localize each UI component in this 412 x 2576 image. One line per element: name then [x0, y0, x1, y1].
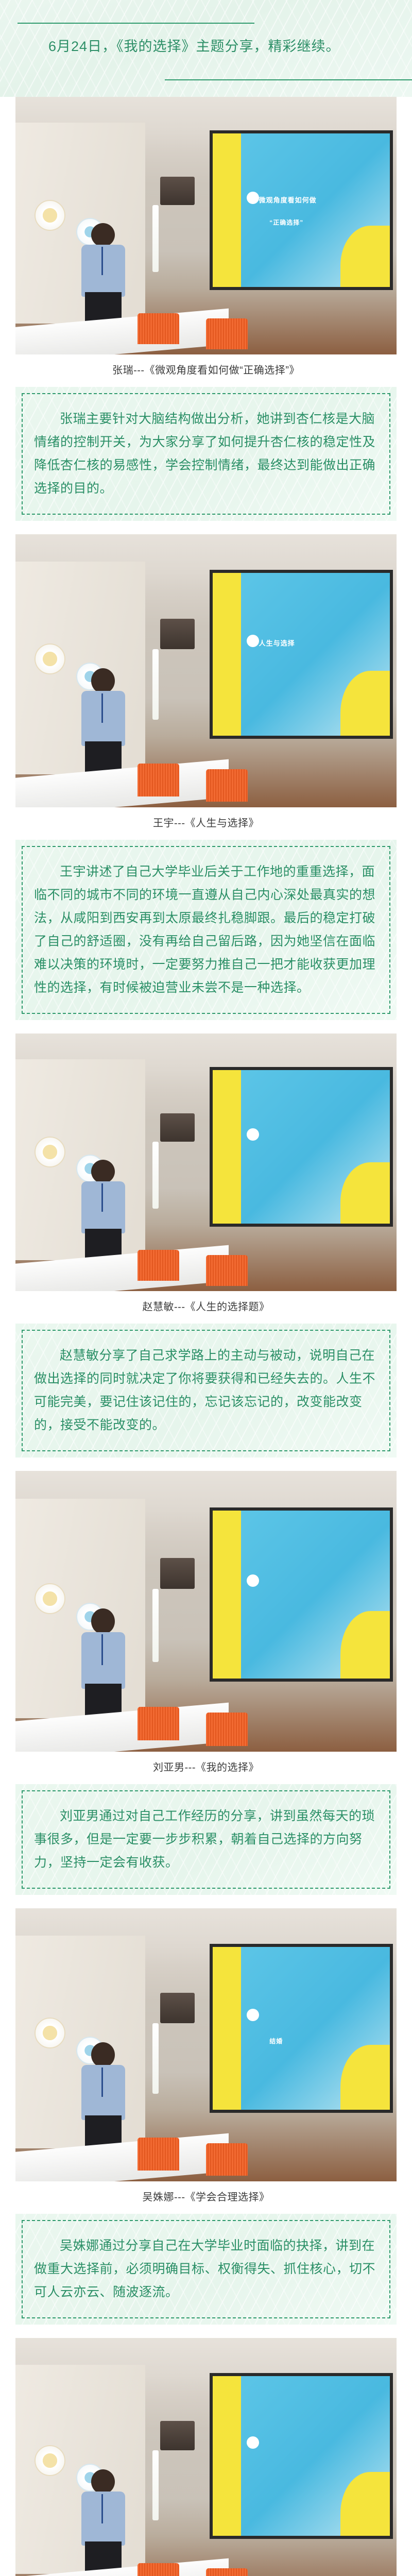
person-lanyard-icon — [101, 693, 103, 723]
person-head-icon — [91, 1608, 115, 1634]
summary-text: 赵慧敏分享了自己求学路上的主动与被动，说明自己在做出选择的同时就决定了你将要获得… — [34, 1344, 378, 1437]
person-lanyard-icon — [101, 247, 103, 275]
photo-light-tube-icon — [152, 2450, 159, 2520]
person-lanyard-icon — [101, 1183, 103, 1212]
photo-projector-speaker — [160, 177, 195, 205]
speaker-section: 赵慧敏---《人生的选择题》赵慧敏分享了自己求学路上的主动与被动，说明自己在做出… — [0, 1033, 412, 1458]
photo-speaker-person — [80, 2469, 126, 2576]
dashed-border-box: 刘亚男通过对自己工作经历的分享，讲到虽然每天的琐事很多，但是一定要一步步积累，朝… — [22, 1790, 390, 1889]
speaker-section: 结婚吴姝娜---《学会合理选择》吴姝娜通过分享自己在大学毕业时面临的抉择，讲到在… — [0, 1908, 412, 2325]
speaker-photo[interactable]: 微观角度看如何做“正确选择” — [15, 97, 397, 354]
photo-projector-speaker — [160, 2421, 195, 2450]
photo-projector-speaker — [160, 1993, 195, 2023]
slide-accent-shape-2 — [340, 1611, 390, 1678]
slide-accent-shape-2 — [340, 1162, 390, 1224]
photo-chair-1-icon — [138, 764, 179, 796]
slide-accent-shape — [213, 1947, 241, 2110]
speaker-section: 微观角度看如何做“正确选择”张瑞---《微观角度看如何做“正确选择”》张瑞主要针… — [0, 97, 412, 521]
photo-projection-screen — [210, 2373, 392, 2539]
summary-text: 刘亚男通过对自己工作经历的分享，讲到虽然每天的琐事很多，但是一定要一步步积累，朝… — [34, 1805, 378, 1874]
photo-wall-decal-icon — [35, 643, 65, 674]
photo-chair-2-icon — [206, 2568, 248, 2576]
person-shirt — [81, 245, 125, 297]
photo-wall-decal-icon — [35, 2445, 65, 2476]
photo-projection-screen: 结婚 — [210, 1944, 392, 2113]
photo-wall-decal-icon — [35, 1137, 65, 1167]
slide-title: 微观角度看如何做 — [259, 195, 317, 205]
person-head-icon — [91, 2042, 115, 2067]
banner-bottom-rule — [165, 79, 412, 80]
dashed-border-box: 赵慧敏分享了自己求学路上的主动与被动，说明自己在做出选择的同时就决定了你将要获得… — [22, 1330, 390, 1451]
photo-chair-2-icon — [206, 318, 248, 349]
photo-caption: 张瑞---《微观角度看如何做“正确选择”》 — [0, 354, 412, 387]
photo-speaker-person — [80, 2042, 126, 2157]
summary-callout: 刘亚男通过对自己工作经历的分享，讲到虽然每天的琐事很多，但是一定要一步步积累，朝… — [15, 1784, 397, 1895]
slide-smiley-icon — [247, 1128, 259, 1141]
photo-chair-2-icon — [206, 1713, 248, 1746]
summary-callout: 王宇讲述了自己大学毕业后关于工作地的重重选择，面临不同的城市不同的环境一直遵从自… — [15, 840, 397, 1020]
dashed-border-box: 张瑞主要针对大脑结构做出分析，她讲到杏仁核是大脑情绪的控制开关，为大家分享了如何… — [22, 393, 390, 515]
article-page: 6月24日，《我的选择》主题分享，精彩继续。 微观角度看如何做“正确选择”张瑞-… — [0, 0, 412, 2576]
photo-projector-speaker — [160, 1113, 195, 1142]
summary-callout: 张瑞主要针对大脑结构做出分析，她讲到杏仁核是大脑情绪的控制开关，为大家分享了如何… — [15, 387, 397, 521]
photo-slide-surface — [213, 2376, 389, 2536]
photo-projector-speaker — [160, 619, 195, 649]
person-shirt — [81, 2065, 125, 2120]
photo-slide-surface — [213, 1070, 389, 1224]
slide-subtitle: 结婚 — [269, 2037, 283, 2045]
summary-callout: 赵慧敏分享了自己求学路上的主动与被动，说明自己在做出选择的同时就决定了你将要获得… — [15, 1324, 397, 1458]
photo-caption: 赵慧敏---《人生的选择题》 — [0, 1291, 412, 1324]
photo-slide-surface: 人生与选择 — [213, 573, 389, 736]
person-head-icon — [91, 223, 115, 247]
photo-wall-decal-icon — [35, 200, 65, 231]
photo-speaker-person — [80, 668, 126, 783]
slide-accent-shape-2 — [340, 2045, 390, 2110]
photo-caption: 王宇---《人生与选择》 — [0, 807, 412, 840]
person-shirt — [81, 1632, 125, 1689]
person-head-icon — [91, 668, 115, 693]
photo-speaker-person — [80, 1160, 126, 1268]
photo-chair-1-icon — [138, 313, 179, 344]
photo-chair-2-icon — [206, 1255, 248, 1286]
speaker-photo[interactable] — [15, 1033, 397, 1291]
speaker-photo[interactable]: 人生与选择 — [15, 534, 397, 807]
photo-chair-1-icon — [138, 2138, 179, 2171]
photo-wall-decal-icon — [35, 1583, 65, 1614]
header-banner: 6月24日，《我的选择》主题分享，精彩继续。 — [0, 0, 412, 97]
slide-accent-shape — [213, 1070, 241, 1224]
slide-smiley-icon — [247, 192, 259, 204]
slide-accent-shape — [213, 2376, 241, 2536]
speaker-section: 人生与选择王宇---《人生与选择》王宇讲述了自己大学毕业后关于工作地的重重选择，… — [0, 534, 412, 1020]
summary-text: 张瑞主要针对大脑结构做出分析，她讲到杏仁核是大脑情绪的控制开关，为大家分享了如何… — [34, 408, 378, 500]
person-head-icon — [91, 1160, 115, 1183]
person-lanyard-icon — [101, 2494, 103, 2523]
photo-chair-2-icon — [206, 769, 248, 802]
slide-title: 人生与选择 — [259, 638, 295, 648]
photo-projection-screen: 微观角度看如何做“正确选择” — [210, 130, 392, 290]
slide-smiley-icon — [247, 2436, 259, 2449]
photo-speaker-person — [80, 223, 126, 331]
photo-projection-screen — [210, 1507, 392, 1682]
photo-caption: 吴姝娜---《学会合理选择》 — [0, 2181, 412, 2214]
photo-light-tube-icon — [152, 1142, 159, 1209]
photo-wall-decal-icon — [35, 2018, 65, 2048]
slide-accent-shape-2 — [340, 2472, 390, 2536]
sections-container: 微观角度看如何做“正确选择”张瑞---《微观角度看如何做“正确选择”》张瑞主要针… — [0, 97, 412, 2576]
slide-accent-shape-2 — [340, 671, 390, 736]
person-lanyard-icon — [101, 1634, 103, 1665]
photo-light-tube-icon — [152, 1589, 159, 1662]
speaker-section: 高嘉---《选择》高嘉讲述了自己求学及择业时面临的抉择，讲到一定要跳出自己的舒适… — [0, 2338, 412, 2576]
person-shirt — [81, 1181, 125, 1233]
speaker-section: 刘亚男---《我的选择》刘亚男通过对自己工作经历的分享，讲到虽然每天的琐事很多，… — [0, 1471, 412, 1895]
photo-projection-screen: 人生与选择 — [210, 570, 392, 739]
photo-light-tube-icon — [152, 649, 159, 720]
slide-smiley-icon — [247, 1574, 259, 1587]
dashed-border-box: 吴姝娜通过分享自己在大学毕业时面临的抉择，讲到在做重大选择前，必须明确目标、权衡… — [22, 2220, 390, 2318]
photo-chair-2-icon — [206, 2143, 248, 2176]
photo-projection-screen — [210, 1067, 392, 1227]
person-lanyard-icon — [101, 2067, 103, 2097]
speaker-photo[interactable]: 结婚 — [15, 1908, 397, 2181]
speaker-photo[interactable] — [15, 1471, 397, 1752]
summary-text: 王宇讲述了自己大学毕业后关于工作地的重重选择，面临不同的城市不同的环境一直遵从自… — [34, 860, 378, 999]
photo-slide-surface: 微观角度看如何做“正确选择” — [213, 133, 389, 287]
photo-projector-speaker — [160, 1558, 195, 1589]
photo-speaker-person — [80, 1608, 126, 1726]
slide-accent-shape — [213, 1511, 241, 1679]
intro-text: 6月24日，《我的选择》主题分享，精彩继续。 — [19, 23, 393, 73]
speaker-photo[interactable] — [15, 2338, 397, 2576]
photo-slide-surface — [213, 1511, 389, 1679]
person-shirt — [81, 2492, 125, 2546]
dashed-border-box: 王宇讲述了自己大学毕业后关于工作地的重重选择，面临不同的城市不同的环境一直遵从自… — [22, 846, 390, 1014]
person-head-icon — [91, 2469, 115, 2494]
slide-subtitle: “正确选择” — [269, 218, 303, 227]
photo-chair-1-icon — [138, 1250, 179, 1281]
photo-chair-1-icon — [138, 2563, 179, 2576]
slide-smiley-icon — [247, 635, 259, 647]
photo-light-tube-icon — [152, 205, 159, 272]
slide-smiley-icon — [247, 2009, 259, 2021]
photo-chair-1-icon — [138, 1707, 179, 1740]
photo-slide-surface: 结婚 — [213, 1947, 389, 2110]
slide-accent-shape — [213, 573, 241, 736]
photo-caption: 刘亚男---《我的选择》 — [0, 1752, 412, 1784]
photo-light-tube-icon — [152, 2023, 159, 2094]
summary-callout: 吴姝娜通过分享自己在大学毕业时面临的抉择，讲到在做重大选择前，必须明确目标、权衡… — [15, 2214, 397, 2325]
summary-text: 吴姝娜通过分享自己在大学毕业时面临的抉择，讲到在做重大选择前，必须明确目标、权衡… — [34, 2234, 378, 2304]
slide-accent-shape-2 — [340, 226, 390, 287]
person-shirt — [81, 691, 125, 746]
slide-accent-shape — [213, 133, 241, 287]
